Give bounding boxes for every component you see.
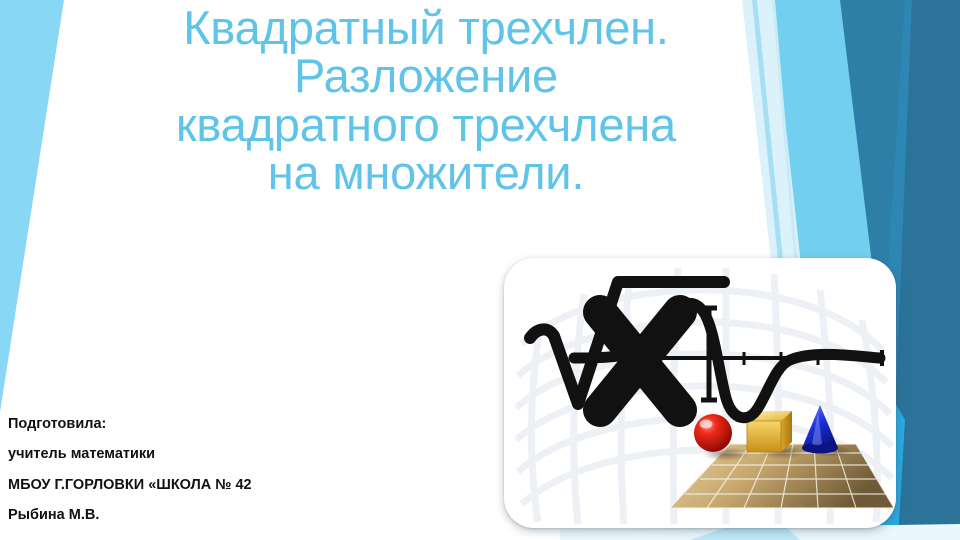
author-line-role: учитель математики bbox=[8, 439, 252, 469]
title-line-4: на множители. bbox=[96, 149, 756, 197]
math-illustration-card bbox=[504, 258, 896, 528]
presentation-slide: Квадратный трехчлен. Разложение квадратн… bbox=[0, 0, 960, 540]
slide-title: Квадратный трехчлен. Разложение квадратн… bbox=[96, 4, 756, 198]
sphere-3d bbox=[694, 414, 732, 452]
title-line-1: Квадратный трехчлен. bbox=[96, 4, 756, 52]
math-illustration-svg bbox=[504, 258, 896, 528]
author-line-name: Рыбина М.В. bbox=[8, 500, 252, 530]
author-credits: Подготовила: учитель математики МБОУ Г.Г… bbox=[8, 409, 252, 531]
author-line-school: МБОУ Г.ГОРЛОВКИ «ШКОЛА № 42 bbox=[8, 470, 252, 500]
author-line-prepared-by: Подготовила: bbox=[8, 409, 252, 439]
left-wedge-shape bbox=[0, 0, 64, 412]
title-line-2: Разложение bbox=[96, 52, 756, 100]
title-line-3: квадратного трехчлена bbox=[96, 101, 756, 149]
